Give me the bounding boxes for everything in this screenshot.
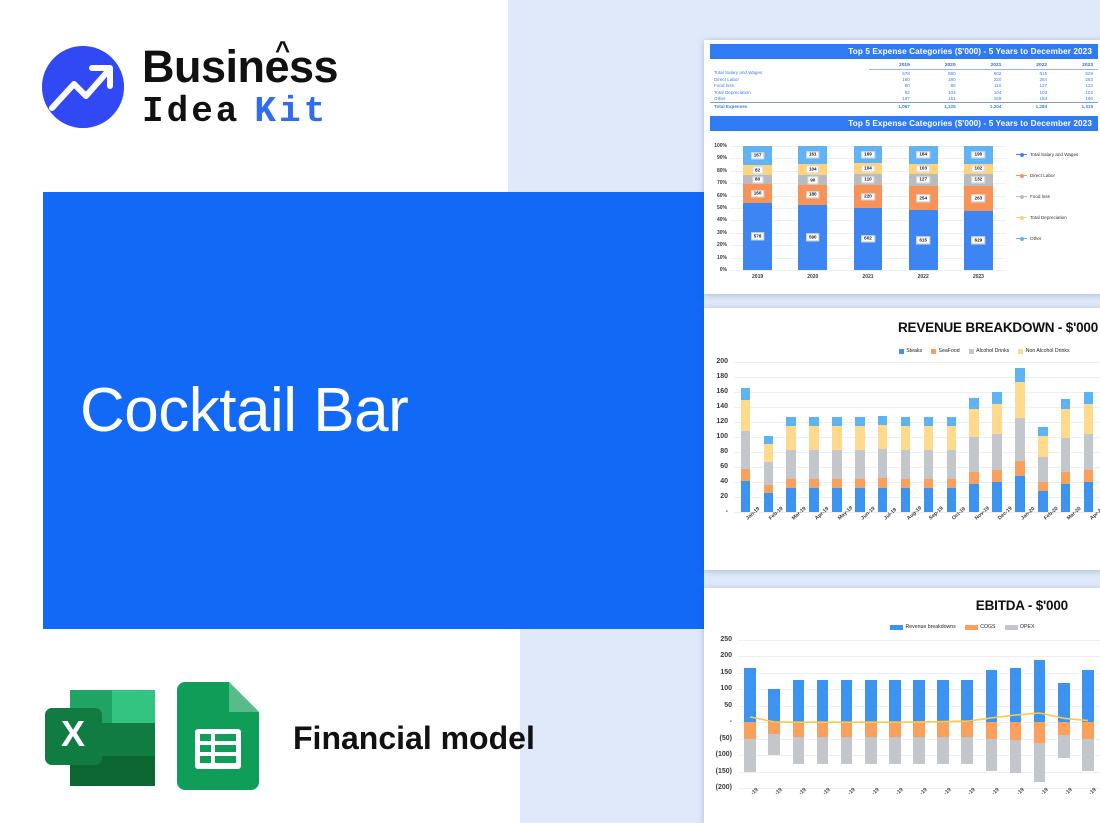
bar-segment: [901, 488, 911, 512]
bar-segment: [901, 426, 911, 450]
bar-value-label: 104: [806, 166, 820, 173]
legend-swatch: [969, 349, 974, 354]
bar-cogs[interactable]: [913, 722, 925, 737]
legend-label: SeaFood: [939, 348, 960, 354]
bar-opex[interactable]: [1034, 743, 1046, 782]
bar-positive[interactable]: [744, 668, 756, 723]
bar-segment: [878, 449, 888, 478]
bar-value-label: 590: [806, 234, 820, 241]
table-row: Other 167 161 169 184 190: [710, 96, 1098, 103]
bar-value-label: 263: [972, 195, 986, 202]
x-axis-tick: 2019: [730, 274, 785, 280]
legend-swatch: [931, 349, 936, 354]
y-axis-tick: 180: [704, 373, 728, 380]
y-axis-tick: -: [704, 508, 728, 515]
bar-value-label: 167: [751, 152, 765, 159]
brand-name-line1: Business ^: [142, 44, 338, 89]
bar-opex[interactable]: [1058, 735, 1070, 758]
legend-item[interactable]: COGS: [965, 624, 996, 630]
y-axis-tick: 160: [704, 388, 728, 395]
y-axis-tick: 100%: [710, 143, 727, 149]
bar-segment: [1038, 457, 1048, 483]
bar-cogs[interactable]: [1010, 722, 1022, 740]
bar-segment: [741, 481, 751, 512]
bar-segment: [741, 388, 751, 400]
legend-label: Alcohol Drinks: [976, 348, 1009, 354]
bar-value-label: 615: [916, 236, 930, 243]
bar-cogs[interactable]: [744, 722, 756, 739]
bar-cogs[interactable]: [817, 722, 829, 737]
format-badges: X Financial model: [45, 682, 535, 795]
bar-opex[interactable]: [768, 734, 780, 755]
y-axis-tick: -: [704, 718, 732, 725]
y-axis-tick: 60%: [710, 193, 727, 199]
table-header-row: 2019 2020 2021 2022 2023: [710, 62, 1098, 70]
trend-arrow-icon: [42, 46, 124, 128]
expense-categories-card[interactable]: Top 5 Expense Categories ($'000) - 5 Yea…: [704, 40, 1100, 294]
bar-cogs[interactable]: [841, 722, 853, 737]
grid-line: [738, 673, 1100, 674]
bar-segment: [741, 431, 751, 469]
bar-segment: [1015, 461, 1025, 476]
bar-segment: [878, 478, 888, 488]
revenue-breakdown-card[interactable]: REVENUE BREAKDOWN - $'000 20018016014012…: [704, 308, 1100, 570]
bar-segment: [855, 417, 865, 426]
bar-segment: 80: [743, 175, 772, 184]
grid-line: [734, 392, 1100, 393]
grid-line: [734, 362, 1100, 363]
bar-value-label: 104: [861, 165, 875, 172]
bar-segment: [809, 417, 819, 426]
bar-segment: [764, 462, 774, 485]
bar-value-label: 110: [861, 176, 874, 183]
bar-cogs[interactable]: [1082, 722, 1094, 739]
y-axis-tick: 40: [704, 478, 728, 485]
bar-segment: [992, 482, 1002, 512]
bar-segment: 104: [798, 164, 827, 175]
legend-swatch: [1005, 625, 1018, 630]
bar-column[interactable]: [809, 417, 819, 512]
brand-name-business: Business: [142, 41, 338, 92]
grid-line: [738, 656, 1100, 657]
bar-column[interactable]: [855, 417, 865, 512]
bar-segment: [947, 426, 957, 450]
legend-swatch: [1016, 175, 1027, 177]
bar-segment: 263: [964, 186, 993, 211]
bar-value-label: 132: [972, 176, 986, 183]
bar-segment: [878, 488, 888, 512]
bar-segment: 103: [909, 164, 938, 174]
legend-label: Steaks: [906, 348, 922, 354]
y-axis-tick: 60: [704, 463, 728, 470]
bar-segment: 169: [854, 146, 883, 163]
y-axis-tick: (150): [704, 768, 732, 775]
ebitda-chart-title: EBITDA - $'000: [704, 598, 1068, 613]
bar-segment: [924, 450, 934, 479]
legend-label: Non Alcohol Drinks: [1026, 348, 1070, 354]
expense-stacked-chart[interactable]: 100%90%80%70%60%50%40%30%20%10%0%1678280…: [710, 144, 1098, 286]
bar-segment: [809, 450, 819, 479]
bar-positive[interactable]: [889, 680, 901, 722]
y-axis-tick: 80: [704, 448, 728, 455]
y-axis-tick: 10%: [710, 255, 727, 261]
grid-line: [738, 772, 1100, 773]
row-label: Total Salary and Wages: [710, 70, 869, 77]
bar-segment: [1061, 399, 1071, 410]
circumflex-accent-icon: ^: [275, 37, 290, 63]
bar-segment: 161: [798, 146, 827, 164]
google-sheets-icon: [177, 682, 259, 795]
bar-segment: 132: [964, 174, 993, 186]
bar-segment: 578: [743, 203, 772, 270]
legend-swatch: [1016, 154, 1027, 156]
bar-positive[interactable]: [937, 680, 949, 722]
y-axis-tick: 200: [704, 358, 728, 365]
legend-swatch: [890, 625, 903, 630]
legend-item[interactable]: Direct Labor: [1016, 173, 1055, 178]
bar-segment: 220: [854, 185, 883, 208]
bar-segment: [878, 425, 888, 449]
revenue-stacked-chart[interactable]: 20018016014012010080604020-Jan-19Feb-19M…: [704, 346, 1100, 570]
cell: 1,316: [1052, 102, 1098, 109]
bar-segment: 254: [909, 186, 938, 211]
bar-value-label: 254: [916, 195, 930, 202]
x-axis-tick: 2020: [785, 274, 840, 280]
footer-label: Financial model: [293, 720, 535, 757]
bar-segment: [992, 470, 1002, 482]
legend-swatch: [899, 349, 904, 354]
bar-segment: [901, 479, 911, 488]
bar-positive[interactable]: [1058, 683, 1070, 722]
bar-value-label: 578: [751, 233, 765, 240]
bar-segment: 82: [743, 165, 772, 175]
bar-segment: [1061, 409, 1071, 438]
bar-positive[interactable]: [1082, 670, 1094, 723]
bar-segment: [1084, 434, 1094, 470]
bar-segment: [924, 426, 934, 450]
bar-opex[interactable]: [817, 737, 829, 764]
bar-segment: [924, 417, 934, 426]
cell: 1,067: [869, 102, 915, 109]
bar-segment: [992, 404, 1002, 434]
grid-line: [738, 640, 1100, 641]
bar-opex[interactable]: [961, 737, 973, 764]
bar-opex[interactable]: [793, 737, 805, 764]
legend-label: Total Salary and Wages: [1030, 152, 1078, 157]
bar-segment: [764, 444, 774, 462]
bar-value-label: 127: [916, 176, 930, 183]
brand-name-idea: Idea: [142, 94, 240, 130]
bar-opex[interactable]: [937, 737, 949, 764]
bar-opex[interactable]: [1010, 740, 1022, 772]
bar-segment: [786, 450, 796, 479]
bar-segment: 629: [964, 211, 993, 270]
bar-column[interactable]: [969, 398, 979, 512]
page-title: Cocktail Bar: [80, 375, 408, 446]
bar-segment: [924, 488, 934, 512]
bar-segment: [809, 479, 819, 488]
y-axis-tick: 20%: [710, 242, 727, 248]
y-axis-tick: 100: [704, 685, 732, 692]
bar-segment: [832, 479, 842, 488]
bar-segment: [1084, 404, 1094, 434]
bar-segment: [1084, 482, 1094, 512]
bar-segment: [969, 437, 979, 472]
bar-positive[interactable]: [961, 680, 973, 722]
brand-name-kit: Kit: [254, 94, 328, 130]
bar-opex[interactable]: [841, 737, 853, 764]
bar-segment: [1061, 472, 1071, 483]
bar-opex[interactable]: [865, 737, 877, 764]
svg-text:X: X: [61, 713, 85, 754]
bar-column[interactable]: [901, 417, 911, 512]
bar-segment: [924, 479, 934, 488]
bar-positive[interactable]: [768, 689, 780, 722]
expense-table-title: Top 5 Expense Categories ($'000) - 5 Yea…: [710, 44, 1098, 59]
bar-segment: [741, 400, 751, 432]
bar-cogs[interactable]: [1034, 722, 1046, 742]
bar-cogs[interactable]: [961, 722, 973, 737]
bar-positive[interactable]: [913, 680, 925, 722]
bar-opex[interactable]: [744, 739, 756, 771]
cell: 1,204: [961, 102, 1007, 109]
legend-item[interactable]: Steaks: [899, 348, 922, 354]
legend-item[interactable]: Alcohol Drinks: [969, 348, 1010, 354]
legend-item[interactable]: Total Salary and Wages: [1016, 152, 1078, 157]
legend-swatch: [1016, 196, 1027, 198]
y-axis-tick: (50): [704, 735, 732, 742]
cell: 615: [1006, 70, 1052, 77]
bar-segment: 102: [964, 164, 993, 174]
bar-value-label: 629: [972, 237, 986, 244]
legend-item[interactable]: SeaFood: [931, 348, 960, 354]
bar-positive[interactable]: [1010, 668, 1022, 723]
y-axis-tick: 100: [704, 433, 728, 440]
cell: 161: [915, 96, 961, 103]
row-label: Other: [710, 96, 869, 103]
bar-cogs[interactable]: [937, 722, 949, 737]
bar-column[interactable]: [878, 416, 888, 512]
legend-swatch: [1018, 349, 1023, 354]
bar-segment: [1015, 418, 1025, 462]
bar-segment: [992, 434, 1002, 470]
bar-opex[interactable]: [986, 739, 998, 770]
bar-column[interactable]: [947, 417, 957, 512]
bar-value-label: 102: [972, 165, 986, 172]
bar-column[interactable]: 169104110220602: [854, 146, 883, 270]
bar-column[interactable]: [1084, 392, 1094, 512]
cell: 167: [869, 96, 915, 103]
bar-value-label: 82: [752, 166, 763, 173]
bar-segment: [786, 479, 796, 488]
legend-item[interactable]: Revenue breakdowns: [890, 624, 956, 630]
bar-positive[interactable]: [1034, 660, 1046, 722]
bar-segment: 104: [854, 163, 883, 174]
bar-value-label: 103: [916, 165, 930, 172]
bar-segment: 615: [909, 210, 938, 269]
cell: 602: [961, 70, 1007, 77]
bar-positive[interactable]: [841, 680, 853, 722]
bar-positive[interactable]: [986, 670, 998, 723]
bar-segment: [786, 426, 796, 450]
bar-value-label: 161: [806, 151, 820, 158]
bar-opex[interactable]: [913, 737, 925, 764]
y-axis-tick: 70%: [710, 180, 727, 186]
brand-name-line2: Idea Kit: [142, 94, 338, 130]
revenue-chart-title: REVENUE BREAKDOWN - $'000: [704, 320, 1098, 335]
bar-column[interactable]: 1678280160578: [743, 146, 772, 270]
legend-label: Food loss: [1030, 194, 1050, 199]
bar-segment: [764, 485, 774, 493]
y-axis-tick: 120: [704, 418, 728, 425]
y-axis-tick: 30%: [710, 230, 727, 236]
bar-segment: [764, 436, 774, 444]
th-2020: 2020: [915, 62, 961, 70]
bar-segment: [809, 426, 819, 450]
x-axis-tick: 2021: [840, 274, 895, 280]
bar-column[interactable]: [741, 388, 751, 513]
cell: 1,125: [915, 102, 961, 109]
bar-segment: [1015, 368, 1025, 382]
bar-segment: [992, 392, 1002, 404]
y-axis-tick: 50%: [710, 205, 727, 211]
bar-column[interactable]: [832, 417, 842, 512]
y-axis-tick: 80%: [710, 168, 727, 174]
bar-segment: [832, 417, 842, 426]
legend-swatch: [1016, 217, 1027, 219]
bar-segment: 160: [743, 184, 772, 203]
bar-cogs[interactable]: [865, 722, 877, 737]
legend-label: Direct Labor: [1030, 173, 1055, 178]
bar-column[interactable]: [1038, 427, 1048, 513]
ebitda-stacked-chart[interactable]: 25020015010050-(50)(100)(150)(200)-19-19…: [704, 622, 1100, 822]
bar-cogs[interactable]: [889, 722, 901, 737]
bar-opex[interactable]: [1082, 739, 1094, 770]
legend-item[interactable]: Non Alcohol Drinks: [1018, 348, 1069, 354]
legend-label: COGS: [980, 624, 995, 630]
bar-column[interactable]: [924, 417, 934, 512]
bar-column[interactable]: [1061, 399, 1071, 512]
bar-positive[interactable]: [817, 680, 829, 722]
bar-column[interactable]: 184103127254615: [909, 146, 938, 270]
th-2022: 2022: [1006, 62, 1052, 70]
cell: 184: [1006, 96, 1052, 103]
bar-segment: 190: [964, 146, 993, 164]
bar-segment: [832, 488, 842, 512]
legend-label: Revenue breakdowns: [906, 624, 956, 630]
bar-segment: [947, 417, 957, 426]
bar-column[interactable]: [992, 392, 1002, 512]
bar-segment: [969, 484, 979, 513]
bar-positive[interactable]: [793, 680, 805, 722]
cell: 1,284: [1006, 102, 1052, 109]
bar-segment: 127: [909, 174, 938, 186]
bar-segment: [1015, 476, 1025, 512]
x-axis-tick: 2022: [896, 274, 951, 280]
bar-cogs[interactable]: [768, 722, 780, 734]
grid-line: [734, 377, 1100, 378]
bar-opex[interactable]: [889, 737, 901, 764]
bar-value-label: 602: [861, 235, 875, 242]
bar-segment: [947, 488, 957, 512]
bar-segment: [1061, 484, 1071, 513]
bar-segment: [1038, 482, 1048, 491]
bar-segment: 184: [909, 146, 938, 164]
bar-segment: [901, 417, 911, 426]
y-axis-tick: 90%: [710, 155, 727, 161]
expense-table: 2019 2020 2021 2022 2023 Total Salary an…: [710, 62, 1098, 110]
bar-segment: [1061, 438, 1071, 473]
legend-swatch: [1016, 238, 1027, 240]
bar-segment: [809, 488, 819, 512]
bar-segment: [764, 493, 774, 512]
bar-segment: 180: [798, 185, 827, 205]
brand-logo[interactable]: Business ^ Idea Kit: [42, 44, 338, 130]
y-axis-tick: 20: [704, 493, 728, 500]
bar-segment: [901, 450, 911, 479]
bar-segment: [855, 450, 865, 479]
bar-segment: [947, 479, 957, 488]
bar-value-label: 160: [751, 190, 765, 197]
bar-segment: [969, 472, 979, 484]
bar-cogs[interactable]: [793, 722, 805, 737]
bar-cogs[interactable]: [986, 722, 998, 739]
bar-segment: [1038, 436, 1048, 457]
bar-segment: [969, 398, 979, 409]
expense-chart-title: Top 5 Expense Categories ($'000) - 5 Yea…: [710, 116, 1098, 131]
y-axis-tick: 50: [704, 702, 732, 709]
bar-value-label: 169: [861, 151, 875, 158]
legend-swatch: [965, 625, 978, 630]
bar-value-label: 180: [806, 191, 820, 198]
y-axis-tick: 40%: [710, 217, 727, 223]
bar-column[interactable]: [1015, 368, 1025, 512]
legend-label: OPEX: [1020, 624, 1034, 630]
bar-column[interactable]: 16110490180590: [798, 146, 827, 270]
th-2021: 2021: [961, 62, 1007, 70]
y-axis-tick: 150: [704, 669, 732, 676]
bar-cogs[interactable]: [1058, 722, 1070, 734]
bar-positive[interactable]: [865, 680, 877, 722]
bar-value-label: 184: [916, 151, 930, 158]
cell: 169: [961, 96, 1007, 103]
row-label: Total Expenses: [710, 102, 869, 109]
cell: 590: [915, 70, 961, 77]
legend-item[interactable]: OPEX: [1005, 624, 1035, 630]
legend-item[interactable]: Food loss: [1016, 194, 1050, 199]
bar-segment: [855, 426, 865, 450]
bar-segment: [1084, 392, 1094, 404]
bar-segment: 90: [798, 175, 827, 185]
bar-segment: 110: [854, 174, 883, 185]
legend-item[interactable]: Other: [1016, 236, 1042, 241]
y-axis-tick: 140: [704, 403, 728, 410]
table-total-row: Total Expenses 1,067 1,125 1,204 1,284 1…: [710, 102, 1098, 109]
ebitda-card[interactable]: EBITDA - $'000 25020015010050-(50)(100)(…: [704, 588, 1100, 823]
bar-column[interactable]: [764, 436, 774, 512]
grid-line: [730, 270, 1006, 271]
bar-segment: 602: [854, 208, 883, 270]
bar-value-label: 80: [752, 176, 763, 183]
bar-value-label: 90: [807, 176, 818, 183]
y-axis-tick: (100): [704, 751, 732, 758]
bar-column[interactable]: [786, 417, 796, 512]
legend-item[interactable]: Total Depreciation: [1016, 215, 1067, 220]
bar-segment: [855, 488, 865, 512]
y-axis-tick: (200): [704, 784, 732, 791]
bar-segment: [1015, 382, 1025, 418]
bar-column[interactable]: 190102132263629: [964, 146, 993, 270]
